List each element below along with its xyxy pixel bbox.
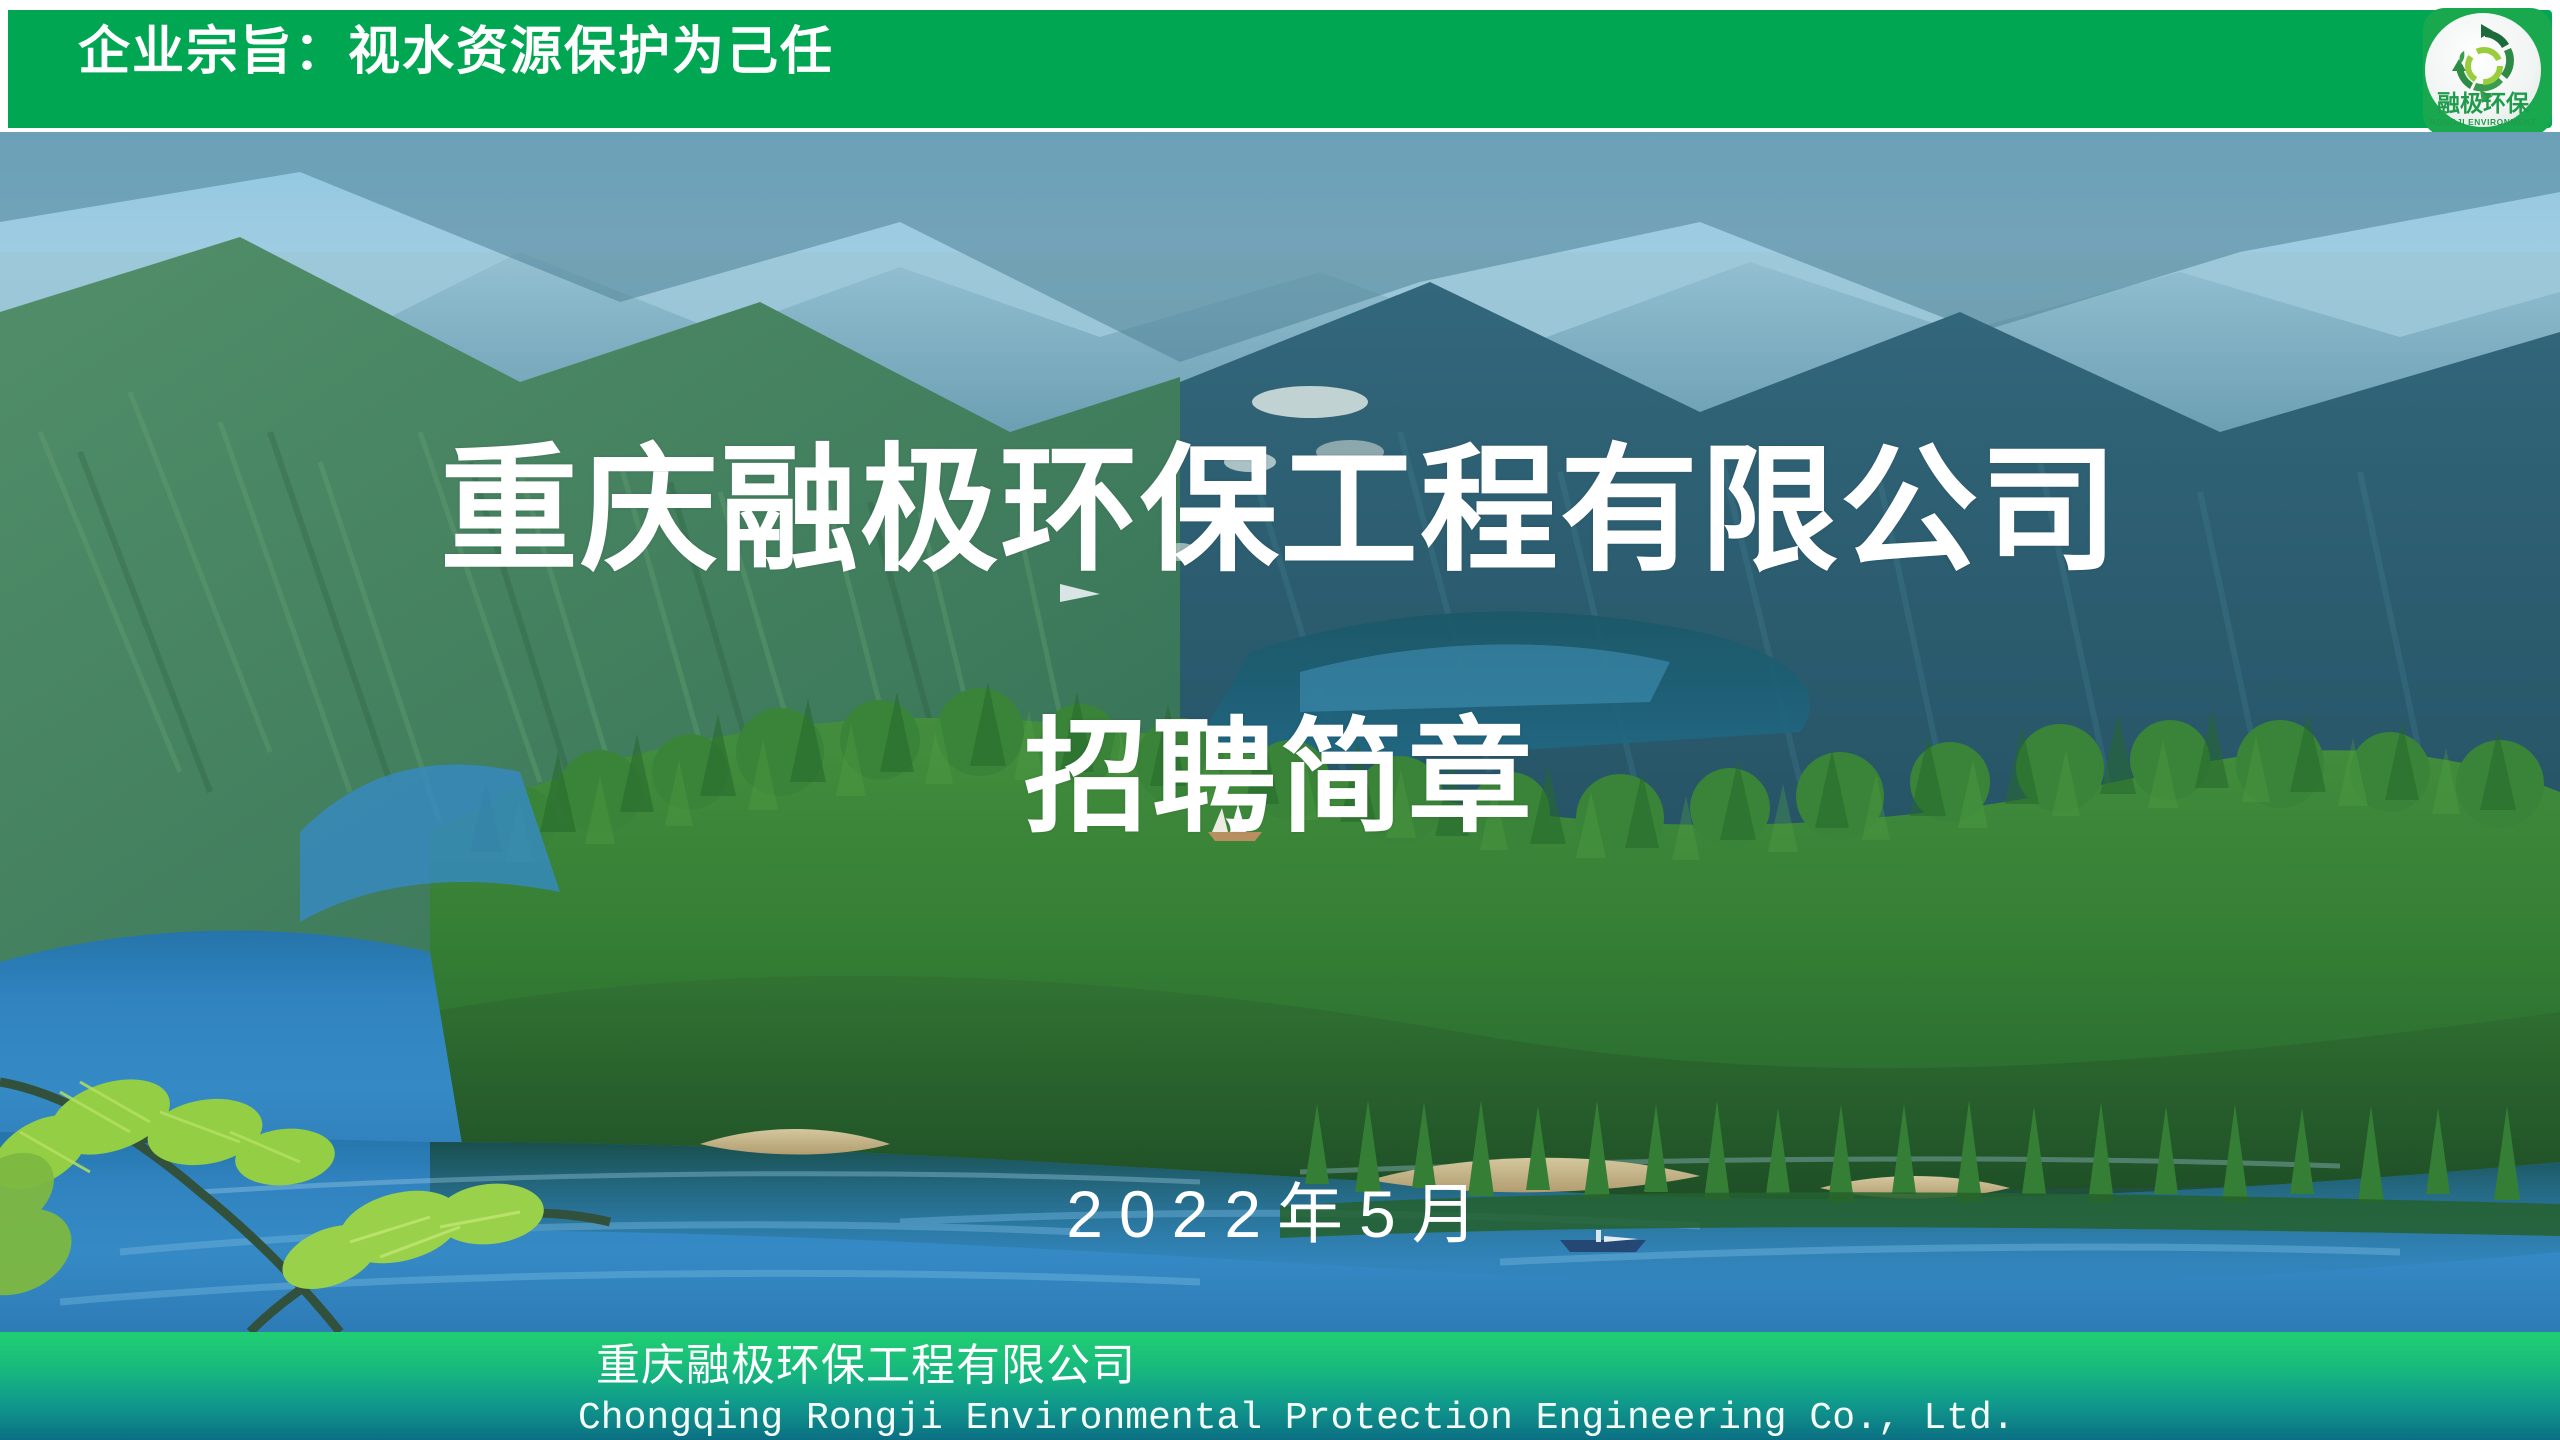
page-subtitle: 招聘简章 (0, 710, 2560, 846)
footer-company-name-en: Chongqing Rongji Environmental Protectio… (578, 1400, 2015, 1438)
logo-name-en: RONGJI ENVIRONMENT (2429, 117, 2536, 127)
presentation-slide: 企业宗旨：视水资源保护为己任 (0, 0, 2560, 1440)
footer-company-name-cn: 重庆融极环保工程有限公司 (596, 1344, 1136, 1388)
slide-date: 2022年5月 (0, 1178, 2560, 1251)
page-title: 重庆融极环保工程有限公司 (0, 436, 2560, 588)
logo-name-cn: 融极环保 (2437, 90, 2530, 116)
company-motto: 企业宗旨：视水资源保护为己任 (78, 26, 834, 78)
company-logo: 融极环保 RONGJI ENVIRONMENT (2423, 8, 2552, 136)
logo-graphic-icon: 融极环保 RONGJI ENVIRONMENT (2423, 8, 2552, 136)
